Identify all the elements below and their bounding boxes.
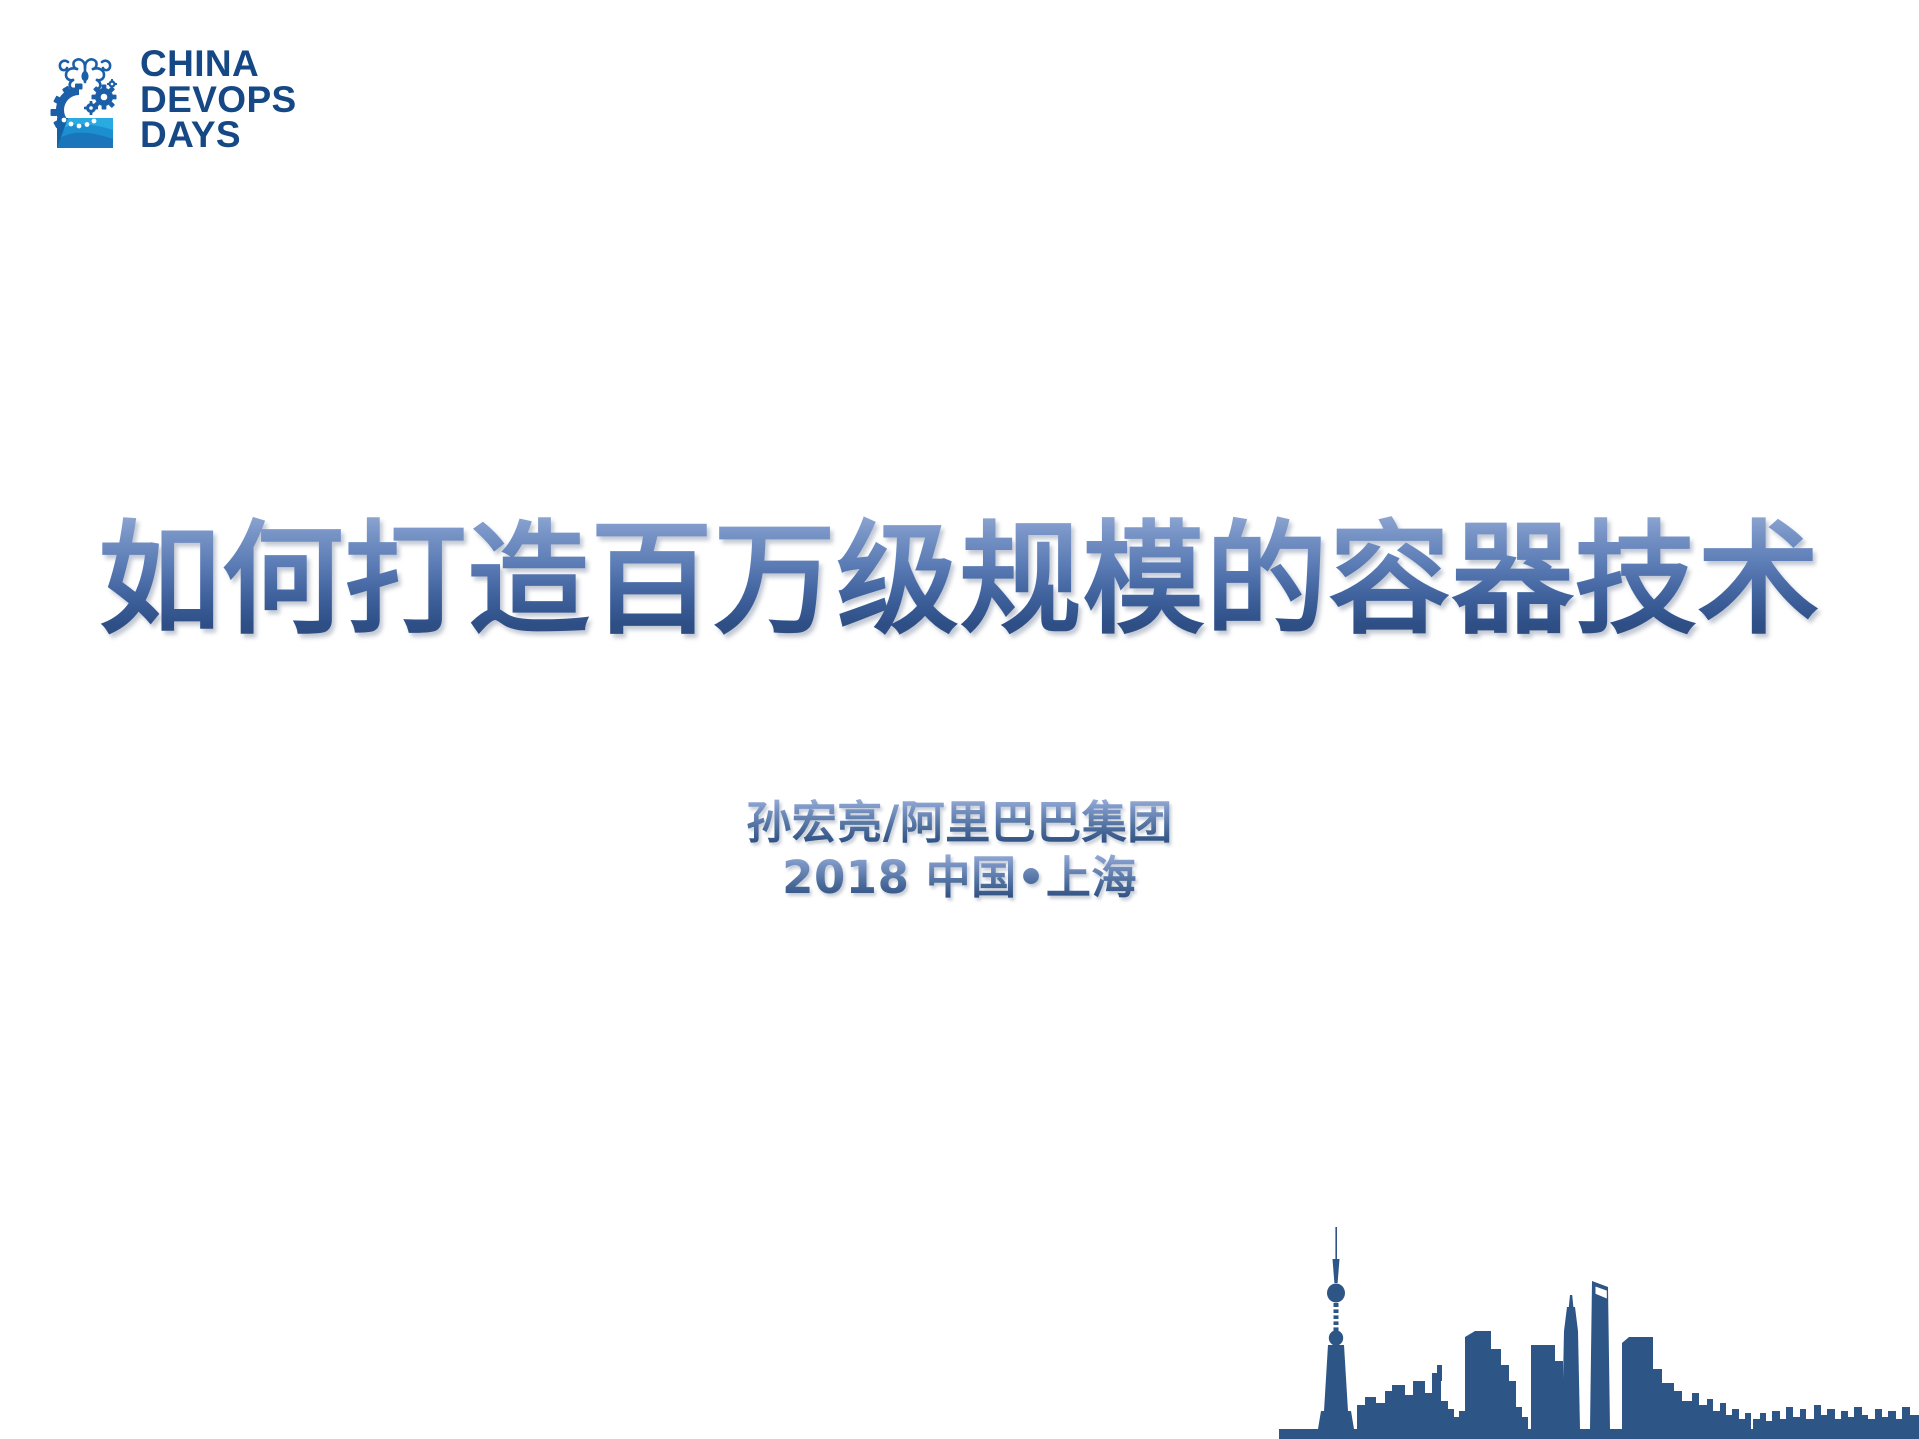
event-year-location: 2018 中国•上海 <box>0 851 1919 906</box>
subtitle-container: 孙宏亮/阿里巴巴集团 2018 中国•上海 <box>0 796 1919 906</box>
shanghai-skyline-silhouette-icon <box>1279 1221 1919 1439</box>
logo-wordmark-line-devops: DEVOPS <box>140 82 297 118</box>
title-container: 如何打造百万级规模的容器技术 <box>0 512 1919 649</box>
slide-title: 如何打造百万级规模的容器技术 <box>99 512 1821 649</box>
logo-wordmark: CHINA DEVOPS DAYS <box>140 36 297 153</box>
logo-wordmark-line-days: DAYS <box>140 117 297 153</box>
conference-logo: CHINA DEVOPS DAYS <box>44 36 297 153</box>
title-slide: CHINA DEVOPS DAYS 如何打造百万级规模的容器技术 孙宏亮/阿里巴… <box>0 0 1919 1439</box>
logo-wordmark-line-china: CHINA <box>140 46 297 82</box>
china-devopsdays-gear-wave-logo-icon <box>44 36 126 148</box>
presenter-affiliation: 孙宏亮/阿里巴巴集团 <box>0 796 1919 851</box>
